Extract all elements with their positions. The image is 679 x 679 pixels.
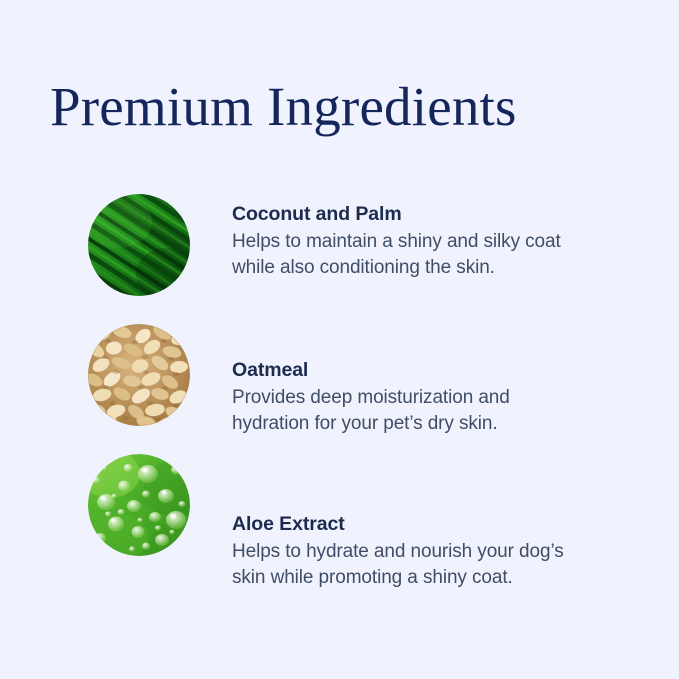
ingredient-description: Helps to maintain a shiny and silky coat… — [232, 229, 652, 281]
list-item: Coconut and Palm Helps to maintain a shi… — [0, 194, 679, 324]
ingredient-description: Helps to hydrate and nourish your dog’s … — [232, 539, 652, 591]
description-line: hydration for your pet’s dry skin. — [232, 411, 652, 437]
ingredient-name: Aloe Extract — [232, 512, 652, 537]
ingredient-text-block: Aloe Extract Helps to hydrate and nouris… — [232, 512, 652, 591]
description-line: Helps to hydrate and nourish your dog’s — [232, 539, 652, 565]
ingredients-infographic: Premium Ingredients — [0, 0, 679, 679]
description-line: Provides deep moisturization and — [232, 385, 652, 411]
description-line: while also conditioning the skin. — [232, 255, 652, 281]
page-title: Premium Ingredients — [50, 76, 517, 138]
description-line: skin while promoting a shiny coat. — [232, 565, 652, 591]
aloe-extract-image — [88, 454, 190, 556]
ingredient-list: Coconut and Palm Helps to maintain a shi… — [0, 194, 679, 584]
ingredient-text-block: Oatmeal Provides deep moisturization and… — [232, 358, 652, 437]
list-item: Oatmeal Provides deep moisturization and… — [0, 324, 679, 454]
list-item: Aloe Extract Helps to hydrate and nouris… — [0, 454, 679, 584]
ingredient-text-block: Coconut and Palm Helps to maintain a shi… — [232, 202, 652, 281]
ingredient-description: Provides deep moisturization and hydrati… — [232, 385, 652, 437]
ingredient-name: Coconut and Palm — [232, 202, 652, 227]
coconut-and-palm-image — [88, 194, 190, 296]
description-line: Helps to maintain a shiny and silky coat — [232, 229, 652, 255]
oatmeal-image — [88, 324, 190, 426]
ingredient-name: Oatmeal — [232, 358, 652, 383]
